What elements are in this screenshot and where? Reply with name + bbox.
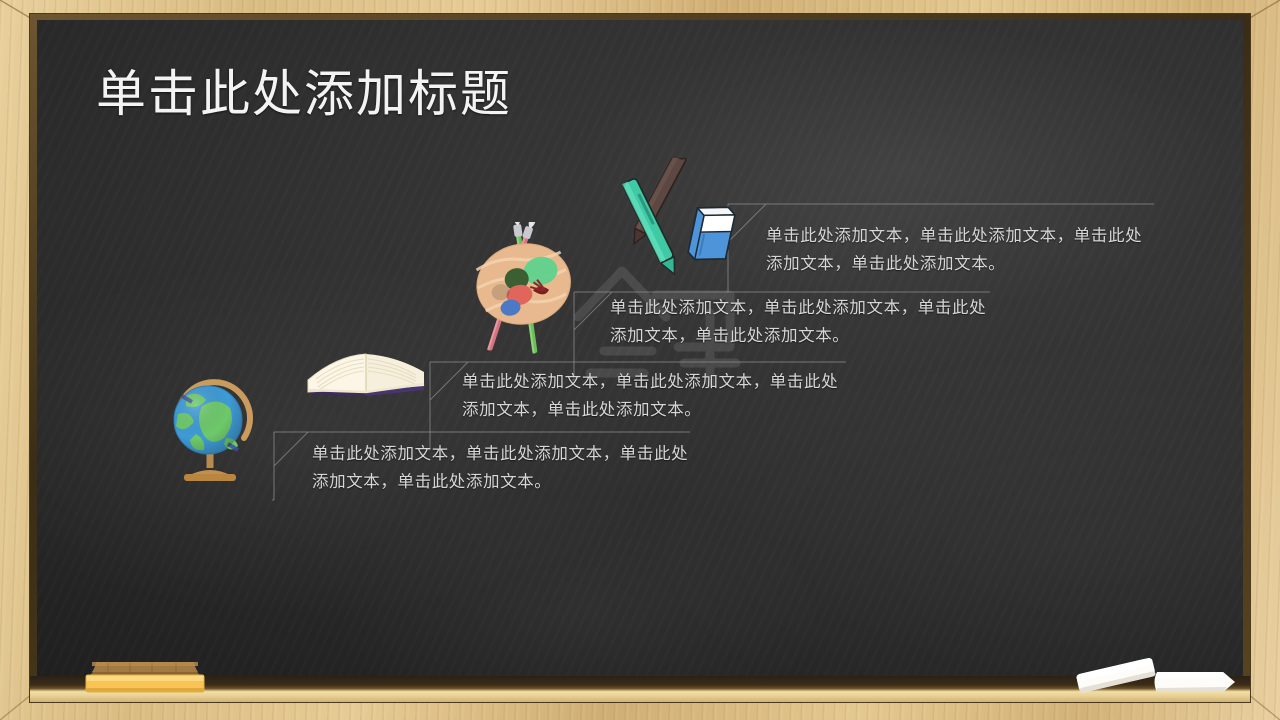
chalk-sticks bbox=[1067, 648, 1252, 700]
step-text-1: 单击此处添加文本，单击此处添加文本，单击此处添加文本，单击此处添加文本。 bbox=[312, 440, 704, 496]
palette-brushes-icon bbox=[452, 222, 580, 362]
open-book-icon bbox=[302, 332, 434, 410]
step-text-2: 单击此处添加文本，单击此处添加文本，单击此处添加文本，单击此处添加文本。 bbox=[462, 368, 854, 424]
pens-eraser-icon bbox=[618, 158, 750, 276]
slide-canvas: 单击此处添加标题 单击此处添加文本，单击此处添加文本，单击此处添加文本，单击此处… bbox=[0, 0, 1280, 720]
globe-icon bbox=[156, 372, 268, 484]
page-title: 单击此处添加标题 bbox=[96, 66, 512, 124]
step-text-3: 单击此处添加文本，单击此处添加文本，单击此处添加文本，单击此处添加文本。 bbox=[610, 294, 1002, 350]
step-text-4: 单击此处添加文本，单击此处添加文本，单击此处添加文本，单击此处添加文本。 bbox=[766, 222, 1158, 278]
blackboard-duster bbox=[78, 644, 212, 696]
